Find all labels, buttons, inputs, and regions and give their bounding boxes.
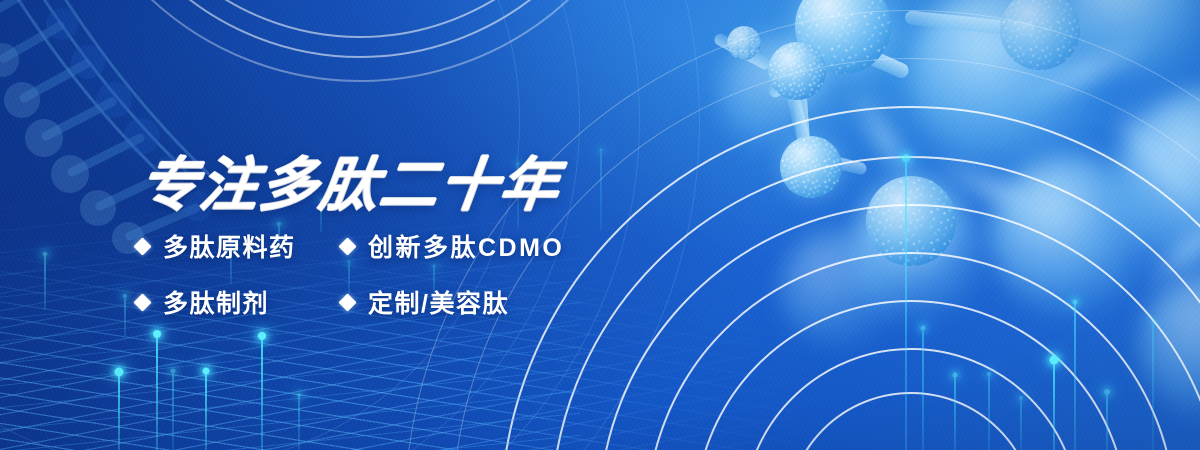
diamond-bullet-icon: [133, 237, 151, 255]
feature-list: 多肽原料药 创新多肽CDMO 多肽制剂 定制/美容肽: [136, 218, 564, 330]
feature-label: 多肽制剂: [163, 284, 269, 320]
feature-label: 多肽原料药: [163, 228, 296, 264]
diamond-bullet-icon: [338, 293, 356, 311]
diamond-bullet-icon: [133, 293, 151, 311]
banner-content: 专注多肽二十年 多肽原料药 创新多肽CDMO 多肽制剂 定制/美容肽: [0, 0, 1200, 450]
hero-banner: 专注多肽二十年 多肽原料药 创新多肽CDMO 多肽制剂 定制/美容肽: [0, 0, 1200, 450]
feature-item-innovative-peptide-cdmo[interactable]: 创新多肽CDMO: [341, 218, 564, 274]
feature-item-peptide-api[interactable]: 多肽原料药: [136, 218, 341, 274]
feature-item-peptide-formulation[interactable]: 多肽制剂: [136, 274, 341, 330]
feature-label: 创新多肽CDMO: [368, 228, 564, 264]
page-title: 专注多肽二十年: [136, 157, 563, 215]
diamond-bullet-icon: [338, 237, 356, 255]
feature-label: 定制/美容肽: [368, 284, 509, 320]
feature-item-custom-cosmetic-peptide[interactable]: 定制/美容肽: [341, 274, 564, 330]
